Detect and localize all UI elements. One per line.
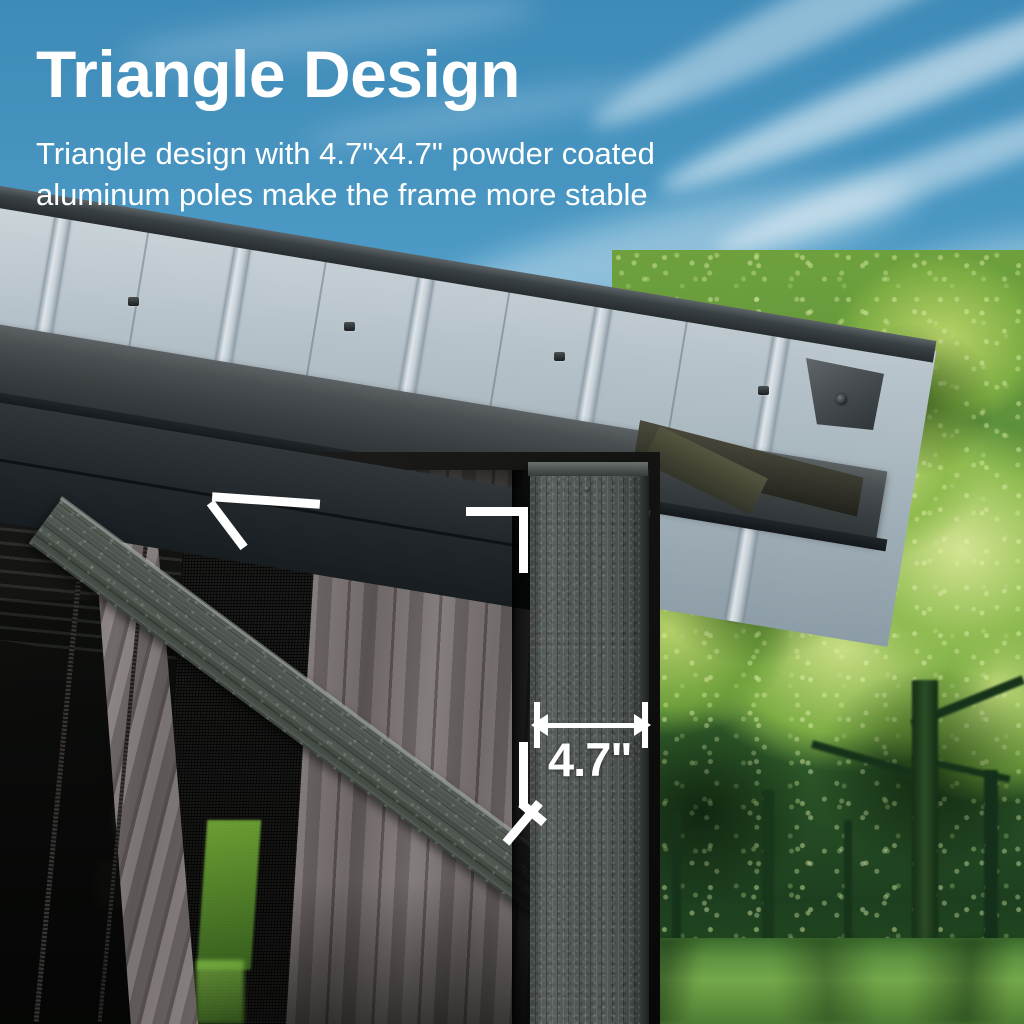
dimension-label: 4.7" (548, 736, 632, 783)
roof-bolt (758, 386, 769, 395)
roof-bolt (344, 322, 355, 331)
dimension-line (540, 723, 642, 728)
dimension-arrow-left-icon (531, 714, 548, 736)
mesh-seen-through-foliage (197, 820, 261, 970)
product-image: 4.7" Triangle Design Triangle design wit… (0, 0, 1024, 1024)
triangle-marker-bottom-right-leg (519, 742, 528, 808)
dimension-arrow-right-icon (634, 714, 651, 736)
roof-bolt (128, 297, 139, 306)
triangle-marker-top-right-leg (519, 507, 528, 573)
subtitle-line-2: aluminum poles make the frame more stabl… (36, 174, 655, 215)
mesh-seen-through-foliage (196, 960, 244, 1024)
post-screw (584, 486, 590, 492)
post-top-cap (528, 462, 648, 476)
subtitle-line-1: Triangle design with 4.7"x4.7" powder co… (36, 133, 655, 174)
end-cap-screw (836, 394, 847, 405)
subtitle: Triangle design with 4.7"x4.7" powder co… (36, 133, 655, 215)
headline: Triangle Design (36, 40, 520, 109)
roof-bolt (554, 352, 565, 361)
